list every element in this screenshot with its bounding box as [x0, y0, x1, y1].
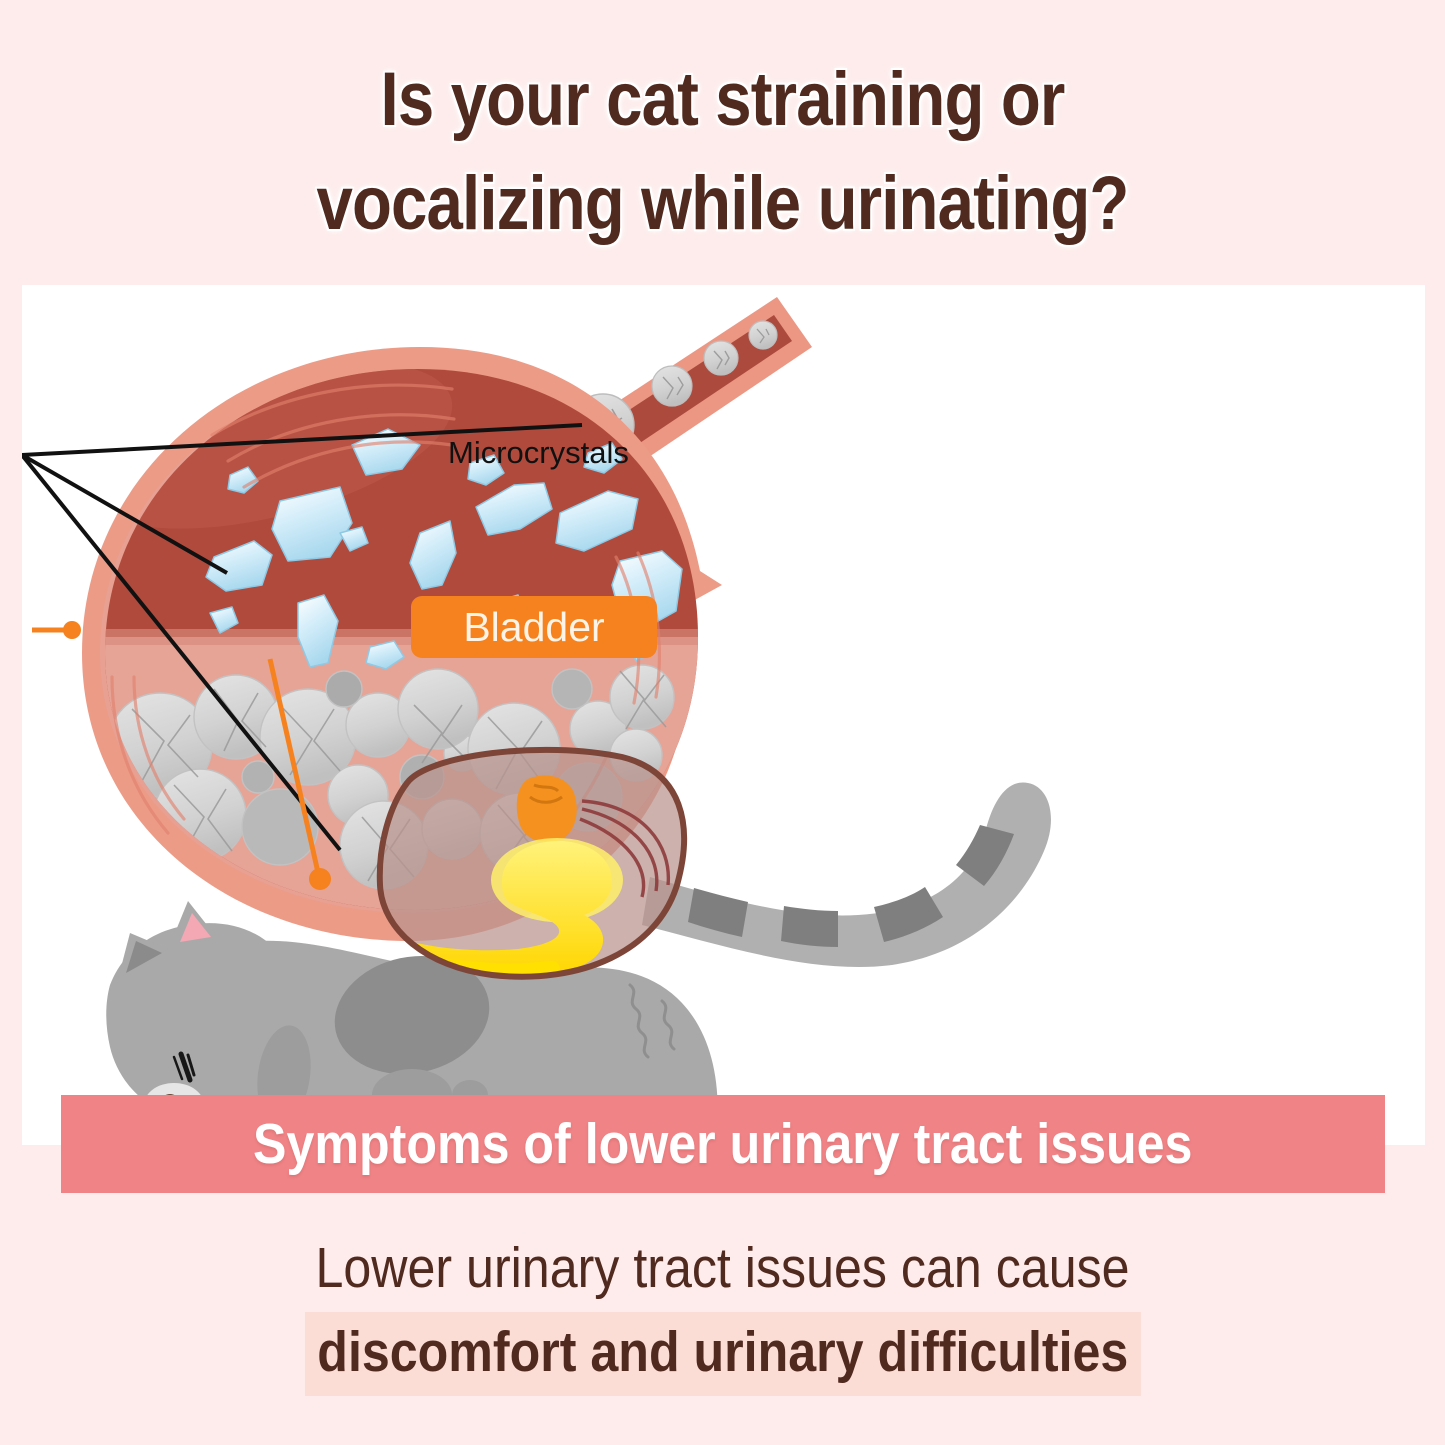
symptoms-banner-label: Symptoms of lower urinary tract issues [253, 1114, 1192, 1174]
cat-cutaway-panel [380, 750, 684, 977]
microcrystals-label: Microcrystals [448, 435, 629, 471]
footer-line-2: discomfort and urinary difficulties [305, 1312, 1141, 1396]
cat-kidney [517, 775, 577, 842]
footer-text-block: Lower urinary tract issues can cause dis… [0, 1232, 1445, 1396]
illustration-panel [22, 285, 1425, 1145]
symptoms-banner: Symptoms of lower urinary tract issues [61, 1095, 1385, 1193]
page-title: Is your cat straining or vocalizing whil… [0, 48, 1445, 256]
bladder-callout[interactable]: Bladder [411, 596, 657, 658]
page-title-line-1: Is your cat straining or [101, 48, 1344, 152]
page-title-line-2: vocalizing while urinating? [101, 152, 1344, 256]
footer-line-1: Lower urinary tract issues can cause [315, 1232, 1129, 1304]
cat-urinary-tract-illustration [22, 285, 1425, 1145]
cat-tail [642, 782, 1051, 966]
bladder-callout-connector [32, 621, 81, 639]
bladder-callout-label: Bladder [463, 604, 604, 651]
